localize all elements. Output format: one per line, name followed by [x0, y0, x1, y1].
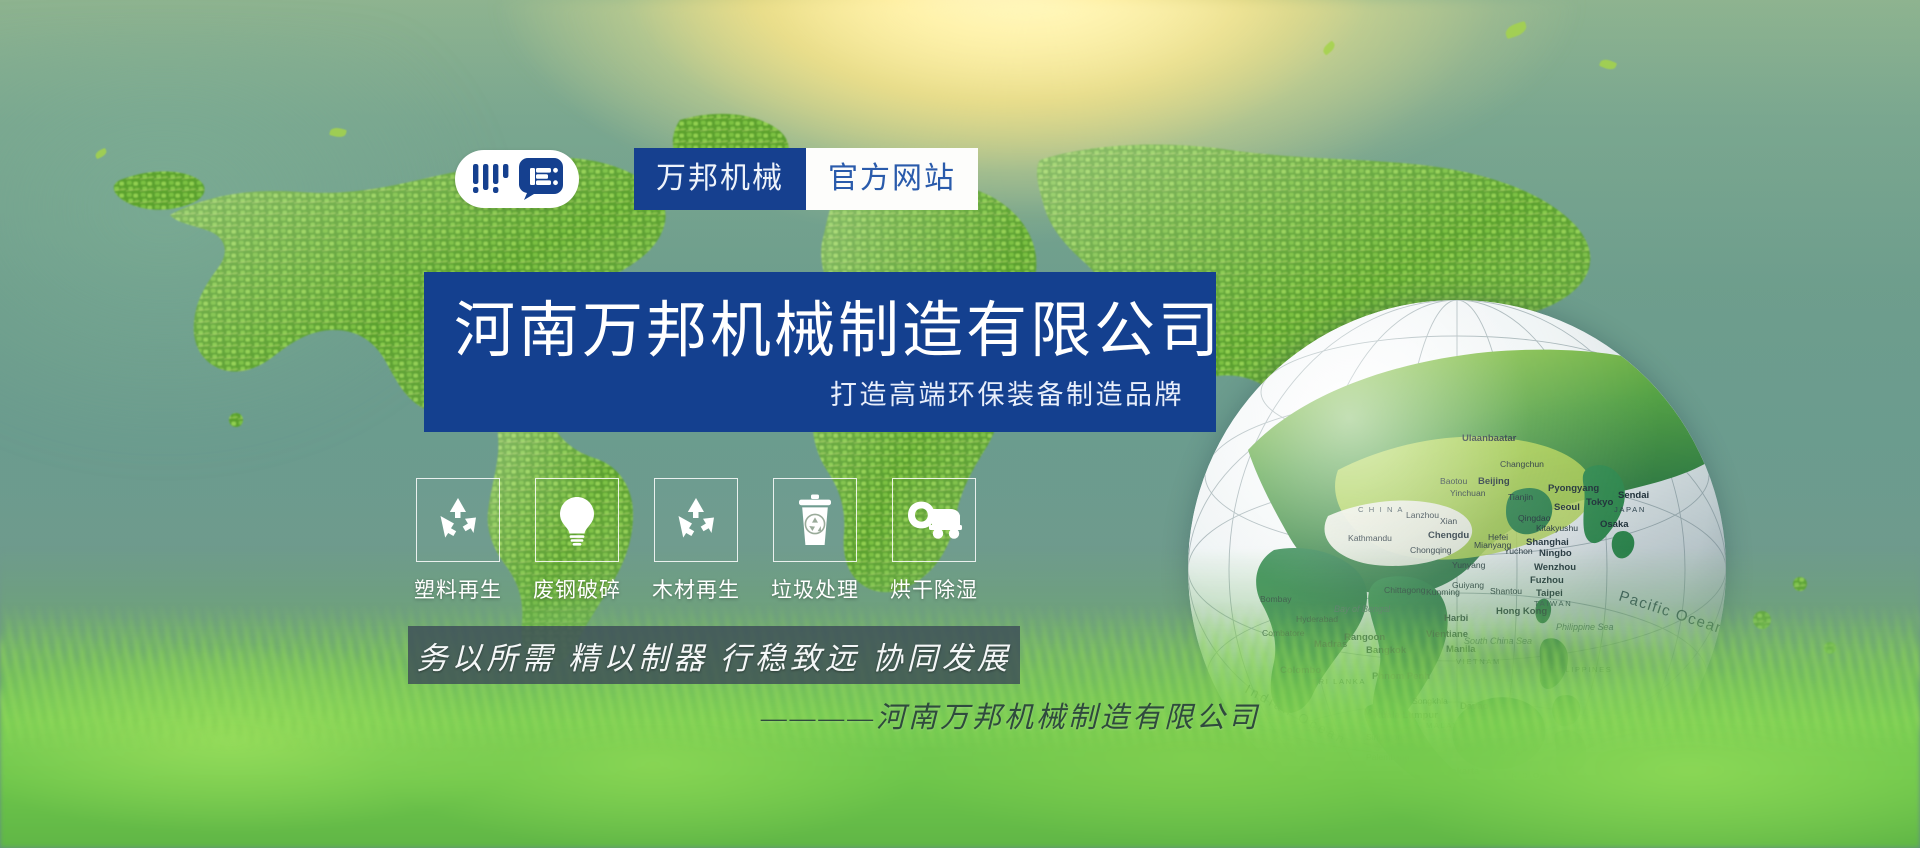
svg-text:Tokyo: Tokyo — [1586, 497, 1613, 508]
feature-icon-box — [654, 478, 738, 562]
brand-bar: 万邦机械 官方网站 — [455, 148, 978, 210]
svg-text:Chengdu: Chengdu — [1428, 530, 1469, 541]
svg-text:Kitakyushu: Kitakyushu — [1536, 523, 1578, 533]
recycle-icon — [432, 494, 484, 546]
feature-item-scrap-steel-crushing[interactable]: 废钢破碎 — [535, 478, 619, 604]
feature-icon-box — [892, 478, 976, 562]
company-logo[interactable] — [455, 150, 579, 208]
feature-label: 塑料再生 — [414, 574, 502, 604]
trash-bin-recycle-icon — [794, 493, 836, 547]
feature-icon-box — [773, 478, 857, 562]
svg-text:Baotou: Baotou — [1440, 476, 1467, 486]
dryer-machine-icon — [905, 499, 963, 541]
site-nav: 万邦机械 官方网站 — [634, 148, 978, 210]
feature-item-drying-dehumidification[interactable]: 烘干除湿 — [892, 478, 976, 604]
svg-text:Beijing: Beijing — [1478, 476, 1510, 487]
hero-banner: Ulaanbaatar Beijing Pyongyang Seoul Toky… — [0, 0, 1920, 848]
nav-item-company[interactable]: 万邦机械 — [634, 148, 806, 210]
slogan-banner: 务以所需 精以制器 行稳致远 协同发展 — [408, 626, 1020, 684]
svg-text:Pyongyang: Pyongyang — [1548, 483, 1599, 494]
nav-item-company-label: 万邦机械 — [656, 164, 784, 194]
svg-text:Lanzhou: Lanzhou — [1406, 510, 1439, 520]
svg-text:Hefei: Hefei — [1488, 532, 1508, 542]
nav-item-official-site-label: 官方网站 — [828, 164, 956, 194]
feature-list: 塑料再生 废钢破碎 — [416, 478, 976, 604]
company-name: 河南万邦机械制造有限公司 — [454, 298, 1184, 363]
svg-text:Qingdao: Qingdao — [1518, 513, 1551, 523]
hero-title-panel: 河南万邦机械制造有限公司 打造高端环保装备制造品牌 — [424, 272, 1216, 432]
svg-text:C H I N A: C H I N A — [1358, 505, 1404, 514]
feature-label: 木材再生 — [652, 574, 740, 604]
recycle-icon — [670, 494, 722, 546]
logo-w-icon — [470, 162, 510, 196]
slogan-attribution: ————河南万邦机械制造有限公司 — [660, 694, 1260, 736]
svg-text:Osaka: Osaka — [1600, 519, 1629, 530]
feature-icon-box — [535, 478, 619, 562]
svg-text:Ulaanbaatar: Ulaanbaatar — [1462, 433, 1517, 444]
feature-item-waste-treatment[interactable]: 垃圾处理 — [773, 478, 857, 604]
svg-text:Changchun: Changchun — [1500, 459, 1544, 469]
nav-item-official-site[interactable]: 官方网站 — [806, 148, 978, 210]
slogan-text: 务以所需 精以制器 行稳致远 协同发展 — [416, 633, 1011, 678]
feature-item-wood-recycling[interactable]: 木材再生 — [654, 478, 738, 604]
feature-label: 废钢破碎 — [533, 574, 621, 604]
svg-text:Kathmandu: Kathmandu — [1348, 533, 1392, 543]
svg-text:Seoul: Seoul — [1554, 502, 1580, 513]
svg-text:Sendai: Sendai — [1618, 490, 1649, 501]
feature-label: 烘干除湿 — [890, 574, 978, 604]
svg-text:Tianjin: Tianjin — [1508, 492, 1533, 502]
svg-text:Xian: Xian — [1440, 516, 1457, 526]
lightbulb-icon — [552, 494, 602, 546]
logo-b-speech-bubble-icon — [518, 157, 564, 201]
svg-text:JAPAN: JAPAN — [1614, 505, 1646, 514]
feature-icon-box — [416, 478, 500, 562]
company-tagline: 打造高端环保装备制造品牌 — [454, 373, 1184, 412]
feature-item-plastic-recycling[interactable]: 塑料再生 — [416, 478, 500, 604]
feature-label: 垃圾处理 — [771, 574, 859, 604]
svg-text:Yinchuan: Yinchuan — [1450, 488, 1486, 498]
